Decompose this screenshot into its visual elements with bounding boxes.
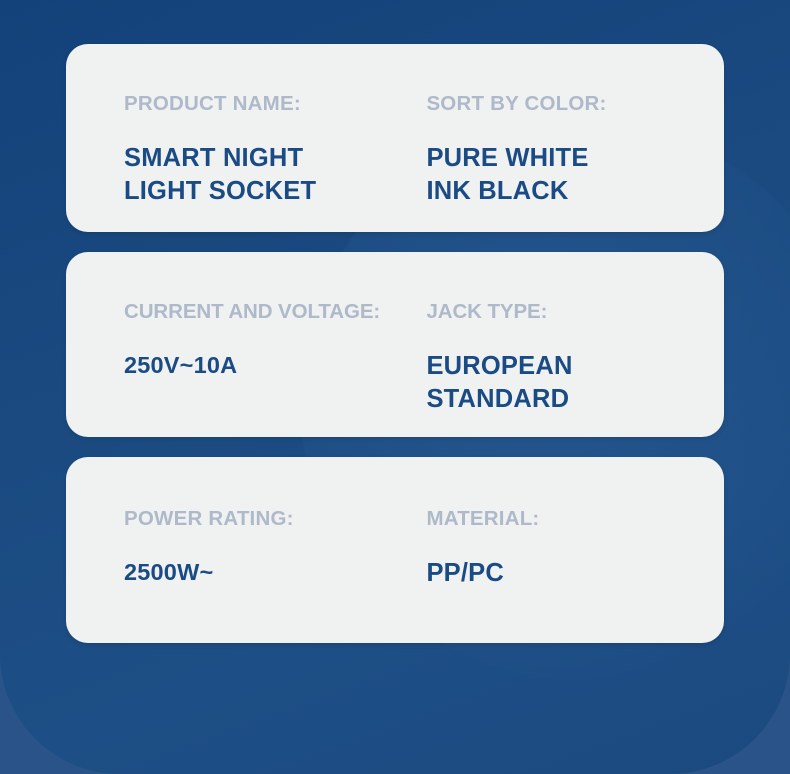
spec-label-jack-type: JACK TYPE: [426,302,704,323]
spec-value-jack-type: EUROPEAN STANDARD [426,350,704,418]
spec-sheet-page: PRODUCT NAME: SMART NIGHT LIGHT SOCKET S… [0,0,790,774]
spec-card-content: POWER RATING: 2500W~ MATERIAL: PP/PC [124,509,704,590]
spec-label-material: MATERIAL: [426,509,704,530]
spec-value-product-name: SMART NIGHT LIGHT SOCKET [124,142,426,210]
spec-field-power-rating: POWER RATING: 2500W~ [124,509,426,590]
spec-value-current-voltage: 250V~10A [124,350,426,381]
spec-field-product-name: PRODUCT NAME: SMART NIGHT LIGHT SOCKET [124,94,426,209]
spec-field-material: MATERIAL: PP/PC [426,509,704,590]
spec-label-power-rating: POWER RATING: [124,509,426,530]
spec-field-current-voltage: CURRENT AND VOLTAGE: 250V~10A [124,302,426,417]
spec-field-jack-type: JACK TYPE: EUROPEAN STANDARD [426,302,704,417]
spec-card-power-material: POWER RATING: 2500W~ MATERIAL: PP/PC [66,457,724,643]
spec-card-content: CURRENT AND VOLTAGE: 250V~10A JACK TYPE:… [124,302,704,417]
spec-label-current-voltage: CURRENT AND VOLTAGE: [124,302,426,323]
spec-card-product: PRODUCT NAME: SMART NIGHT LIGHT SOCKET S… [66,44,724,232]
spec-label-sort-by-color: SORT BY COLOR: [426,94,704,115]
spec-card-content: PRODUCT NAME: SMART NIGHT LIGHT SOCKET S… [124,94,704,209]
spec-value-material: PP/PC [426,557,704,591]
spec-value-sort-by-color: PURE WHITE INK BLACK [426,142,704,210]
spec-label-product-name: PRODUCT NAME: [124,94,426,115]
spec-field-sort-by-color: SORT BY COLOR: PURE WHITE INK BLACK [426,94,704,209]
spec-card-stack: PRODUCT NAME: SMART NIGHT LIGHT SOCKET S… [66,44,724,643]
spec-card-electrical: CURRENT AND VOLTAGE: 250V~10A JACK TYPE:… [66,252,724,437]
spec-value-power-rating: 2500W~ [124,557,426,588]
